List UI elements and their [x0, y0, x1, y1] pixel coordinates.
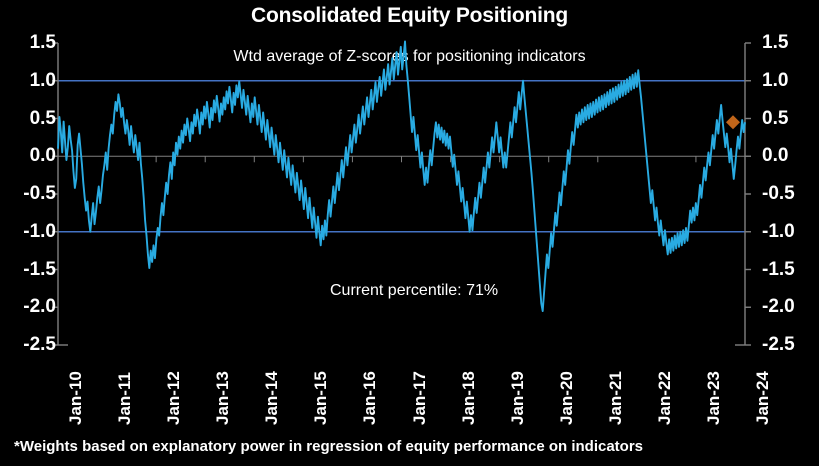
- y-tick-right-7: -2.0: [762, 297, 795, 316]
- x-tick-jan-23: Jan-23: [704, 371, 724, 425]
- y-tick-right-8: -2.5: [762, 335, 795, 354]
- y-tick-left-0: 1.5: [30, 33, 56, 52]
- y-tick-left-5: -1.0: [23, 222, 56, 241]
- y-tick-right-4: -0.5: [762, 184, 795, 203]
- y-tick-right-5: -1.0: [762, 222, 795, 241]
- y-tick-left-2: 0.5: [30, 109, 56, 128]
- x-tick-jan-14: Jan-14: [262, 371, 282, 425]
- x-tick-jan-12: Jan-12: [164, 371, 184, 425]
- x-tick-jan-21: Jan-21: [606, 371, 626, 425]
- x-tick-jan-10: Jan-10: [66, 371, 86, 425]
- x-tick-jan-13: Jan-13: [213, 371, 233, 425]
- y-tick-right-6: -1.5: [762, 260, 795, 279]
- x-tick-jan-15: Jan-15: [311, 371, 331, 425]
- y-tick-left-3: 0.0: [30, 146, 56, 165]
- y-tick-right-2: 0.5: [762, 109, 788, 128]
- y-tick-left-7: -2.0: [23, 297, 56, 316]
- x-tick-jan-16: Jan-16: [360, 371, 380, 425]
- y-tick-left-4: -0.5: [23, 184, 56, 203]
- x-tick-jan-20: Jan-20: [557, 371, 577, 425]
- x-tick-jan-17: Jan-17: [410, 371, 430, 425]
- x-tick-jan-11: Jan-11: [115, 372, 135, 425]
- x-tick-jan-24: Jan-24: [753, 371, 773, 425]
- y-tick-left-8: -2.5: [23, 335, 56, 354]
- y-tick-right-0: 1.5: [762, 33, 788, 52]
- x-tick-jan-22: Jan-22: [655, 371, 675, 425]
- current-percentile-annotation: Current percentile: 71%: [330, 282, 498, 300]
- chart-root: Consolidated Equity Positioning Wtd aver…: [0, 0, 819, 466]
- x-tick-jan-19: Jan-19: [508, 371, 528, 425]
- x-tick-jan-18: Jan-18: [459, 371, 479, 425]
- y-tick-right-1: 1.0: [762, 71, 788, 90]
- y-tick-right-3: 0.0: [762, 146, 788, 165]
- chart-footnote: *Weights based on explanatory power in r…: [14, 438, 643, 455]
- series-line-equity-positioning: [58, 41, 745, 311]
- end-marker-diamond: [726, 115, 740, 129]
- y-tick-left-6: -1.5: [23, 260, 56, 279]
- y-tick-left-1: 1.0: [30, 71, 56, 90]
